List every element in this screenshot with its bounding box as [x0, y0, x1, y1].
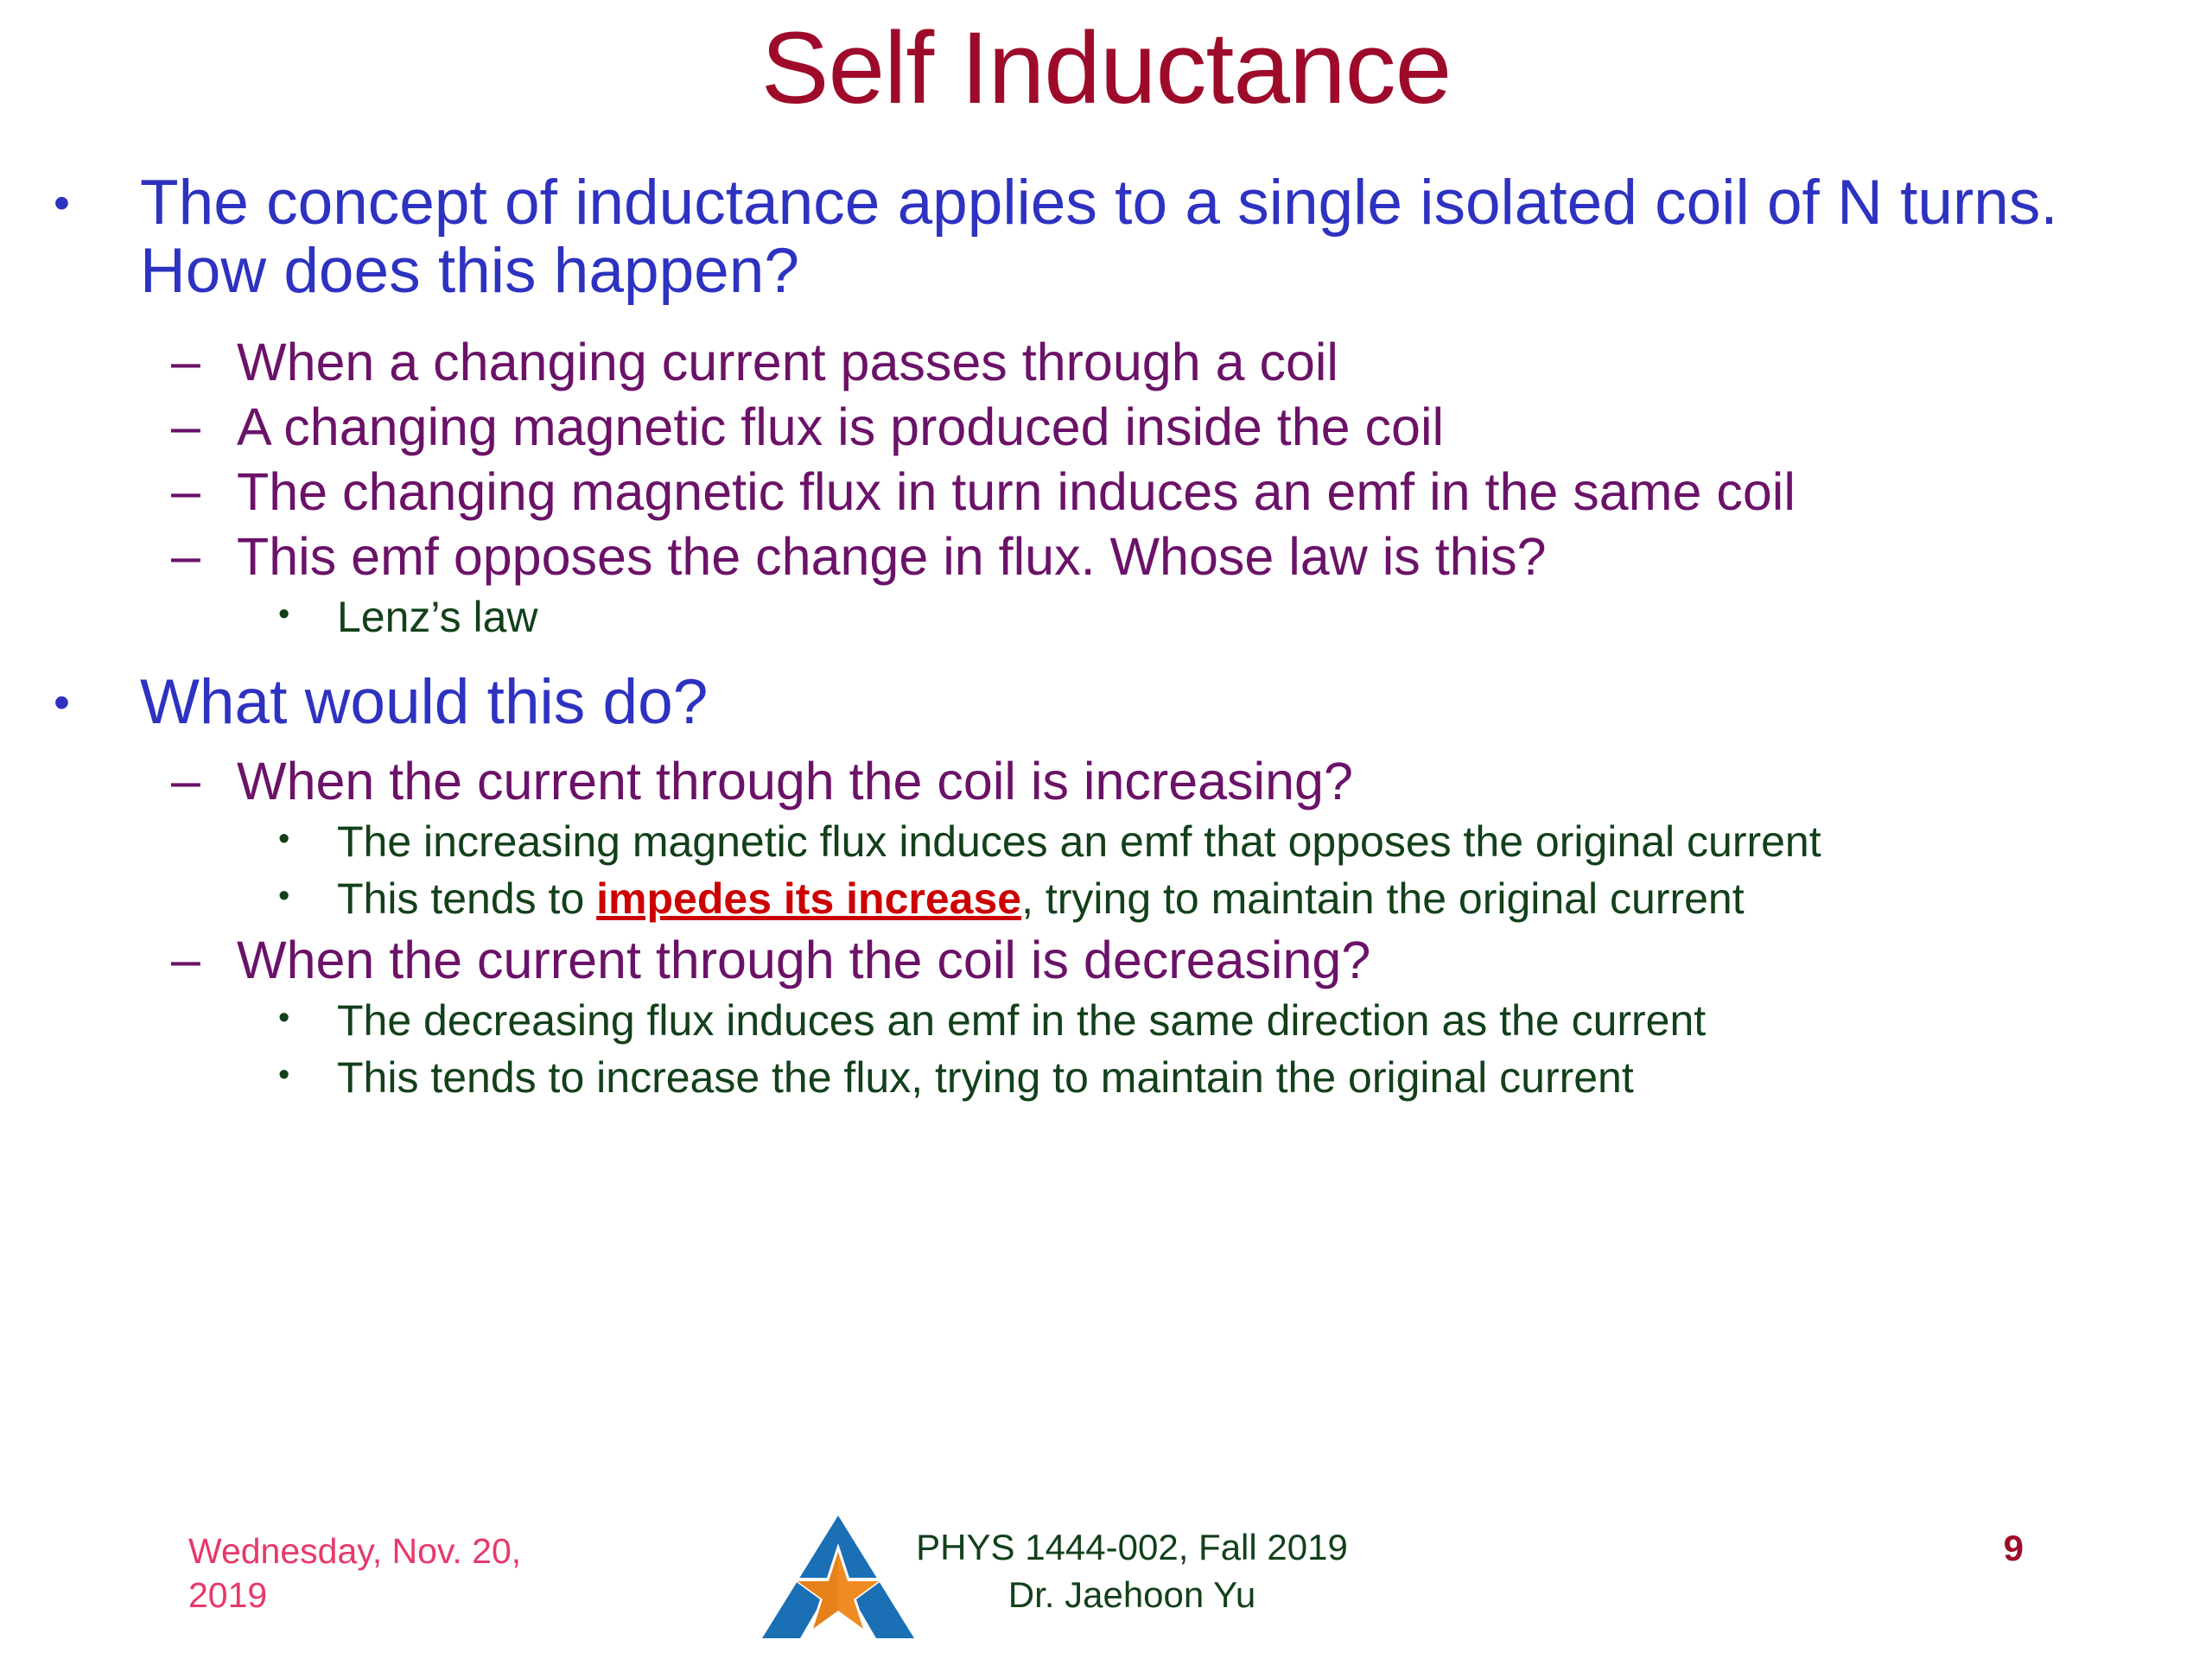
bullet-marker-icon: •	[278, 593, 337, 637]
bullet-text: A changing magnetic flux is produced ins…	[237, 398, 2212, 456]
bullet-text: The concept of inductance applies to a s…	[140, 169, 2136, 306]
dash-marker-icon: –	[171, 398, 237, 454]
footer-date-line2: 2019	[188, 1573, 534, 1618]
dash-marker-icon: –	[171, 753, 237, 808]
slide-body: • The concept of inductance applies to a…	[0, 169, 2212, 1110]
bullet-marker-icon: •	[54, 169, 140, 237]
bullet-level3: • This tends to increase the flux, tryin…	[0, 1053, 2212, 1102]
bullet-level3: • Lenz’s law	[0, 593, 2212, 641]
slide-footer: Wednesday, Nov. 20, 2019 PHYS 1444-002, …	[0, 1505, 2212, 1652]
bullet-level2: – The changing magnetic flux in turn ind…	[0, 463, 2212, 521]
bullet-text-prefix: This tends to	[337, 874, 596, 923]
bullet-text: The increasing magnetic flux induces an …	[337, 817, 2212, 866]
slide: Self Inductance • The concept of inducta…	[0, 0, 2212, 1659]
bullet-text: Lenz’s law	[337, 593, 2212, 641]
footer-course-line: PHYS 1444-002, Fall 2019	[899, 1524, 1365, 1572]
bullet-level3-highlighted: • This tends to impedes its increase, tr…	[0, 874, 2212, 923]
bullet-text: When the current through the coil is dec…	[237, 931, 2212, 989]
spacer	[0, 650, 2212, 669]
spacer	[0, 308, 2212, 334]
bullet-text: What would this do?	[140, 669, 2136, 737]
page-title: Self Inductance	[0, 17, 2212, 119]
footer-course-info: PHYS 1444-002, Fall 2019 Dr. Jaehoon Yu	[899, 1524, 1365, 1618]
bullet-level1: • What would this do?	[0, 669, 2212, 737]
spacer	[0, 739, 2212, 753]
dash-marker-icon: –	[171, 931, 237, 987]
footer-date: Wednesday, Nov. 20, 2019	[188, 1529, 534, 1618]
bullet-level2: – This emf opposes the change in flux. W…	[0, 528, 2212, 586]
bullet-text: This emf opposes the change in flux. Who…	[237, 528, 2212, 586]
bullet-marker-icon: •	[278, 996, 337, 1040]
bullet-text-suffix: , trying to maintain the original curren…	[1021, 874, 1745, 923]
bullet-text: The decreasing flux induces an emf in th…	[337, 996, 2212, 1045]
footer-instructor-line: Dr. Jaehoon Yu	[899, 1572, 1365, 1619]
footer-date-line1: Wednesday, Nov. 20,	[188, 1529, 534, 1573]
bullet-level2: – When the current through the coil is i…	[0, 753, 2212, 810]
bullet-text: When a changing current passes through a…	[237, 334, 2212, 391]
uta-logo	[760, 1512, 916, 1642]
bullet-text: When the current through the coil is inc…	[237, 753, 2212, 810]
page-number: 9	[1920, 1528, 2024, 1569]
bullet-text: The changing magnetic flux in turn induc…	[237, 463, 2212, 521]
dash-marker-icon: –	[171, 528, 237, 583]
bullet-marker-icon: •	[278, 1053, 337, 1097]
bullet-marker-icon: •	[278, 874, 337, 918]
bullet-level3: • The decreasing flux induces an emf in …	[0, 996, 2212, 1045]
bullet-text: This tends to increase the flux, trying …	[337, 1053, 2212, 1102]
bullet-level3: • The increasing magnetic flux induces a…	[0, 817, 2212, 866]
dash-marker-icon: –	[171, 334, 237, 389]
bullet-text: This tends to impedes its increase, tryi…	[337, 874, 2212, 923]
bullet-level2: – When the current through the coil is d…	[0, 931, 2212, 989]
bullet-level1: • The concept of inductance applies to a…	[0, 169, 2212, 306]
dash-marker-icon: –	[171, 463, 237, 518]
bullet-level2: – A changing magnetic flux is produced i…	[0, 398, 2212, 456]
bullet-level2: – When a changing current passes through…	[0, 334, 2212, 391]
highlighted-phrase: impedes its increase	[596, 874, 1021, 923]
bullet-marker-icon: •	[54, 669, 140, 736]
bullet-marker-icon: •	[278, 817, 337, 861]
